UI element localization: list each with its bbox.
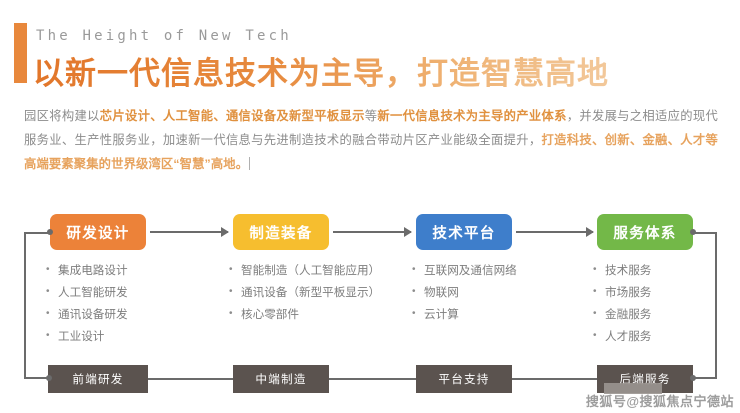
value-chain-diagram: 研发设计 制造装备 技术平台 服务体系 集成电路设计 人工智能研发 通讯设备研发… <box>0 200 740 413</box>
list-item: 工业设计 <box>46 326 221 348</box>
substage-connector-2 <box>329 378 416 380</box>
stage-list-manufacturing: 智能制造（人工智能应用） 通讯设备（新型平板显示） 核心零部件 <box>229 260 409 326</box>
substage-connector-1 <box>148 378 233 380</box>
stage-chip-service[interactable]: 服务体系 <box>597 214 693 250</box>
list-item: 通讯设备研发 <box>46 304 221 326</box>
title-accent-bar <box>14 23 27 83</box>
substage-front-end[interactable]: 前端研发 <box>48 365 148 393</box>
text-cursor <box>249 157 250 170</box>
list-item: 通讯设备（新型平板显示） <box>229 282 409 304</box>
slide-canvas: The Height of New Tech 以新一代信息技术为主导，打造智慧高… <box>0 0 740 413</box>
right-loop-vertical <box>715 232 717 379</box>
stage-chip-manufacturing[interactable]: 制造装备 <box>233 214 329 250</box>
stage-list-rd: 集成电路设计 人工智能研发 通讯设备研发 工业设计 <box>46 260 221 348</box>
substage-platform-support[interactable]: 平台支持 <box>416 365 512 393</box>
list-item: 核心零部件 <box>229 304 409 326</box>
connector-dot-top-right <box>690 229 696 235</box>
arrow-rd-to-manufacturing <box>150 231 228 233</box>
substage-connector-3 <box>512 378 597 380</box>
list-item: 智能制造（人工智能应用） <box>229 260 409 282</box>
left-loop-vertical <box>24 232 26 379</box>
para-segment-1: 园区将构建以 <box>24 109 100 123</box>
stage-list-platform: 互联网及通信网络 物联网 云计算 <box>412 260 587 326</box>
arrow-platform-to-service <box>516 231 593 233</box>
para-segment-3: 等 <box>365 109 378 123</box>
description-paragraph: 园区将构建以芯片设计、人工智能、通信设备及新型平板显示等新一代信息技术为主导的产… <box>24 104 718 176</box>
connector-dot-top-left <box>47 229 53 235</box>
list-item: 集成电路设计 <box>46 260 221 282</box>
para-highlight-1: 芯片设计、人工智能、通信设备及新型平板显示 <box>100 109 365 123</box>
connector-dot-bottom-left <box>46 375 52 381</box>
arrow-manufacturing-to-platform <box>333 231 411 233</box>
list-item: 互联网及通信网络 <box>412 260 587 282</box>
para-highlight-2: 新一代信息技术为主导的产业体系 <box>377 109 566 123</box>
watermark-text: 搜狐号@搜狐焦点宁德站 <box>586 391 734 410</box>
stage-chip-platform[interactable]: 技术平台 <box>416 214 512 250</box>
eyebrow-text: The Height of New Tech <box>36 28 292 44</box>
connector-dot-bottom-right <box>690 375 696 381</box>
list-item: 云计算 <box>412 304 587 326</box>
list-item: 人工智能研发 <box>46 282 221 304</box>
list-item: 物联网 <box>412 282 587 304</box>
page-title: 以新一代信息技术为主导，打造智慧高地 <box>33 48 609 93</box>
substage-mid-manufacturing[interactable]: 中端制造 <box>233 365 329 393</box>
stage-chip-rd[interactable]: 研发设计 <box>50 214 146 250</box>
